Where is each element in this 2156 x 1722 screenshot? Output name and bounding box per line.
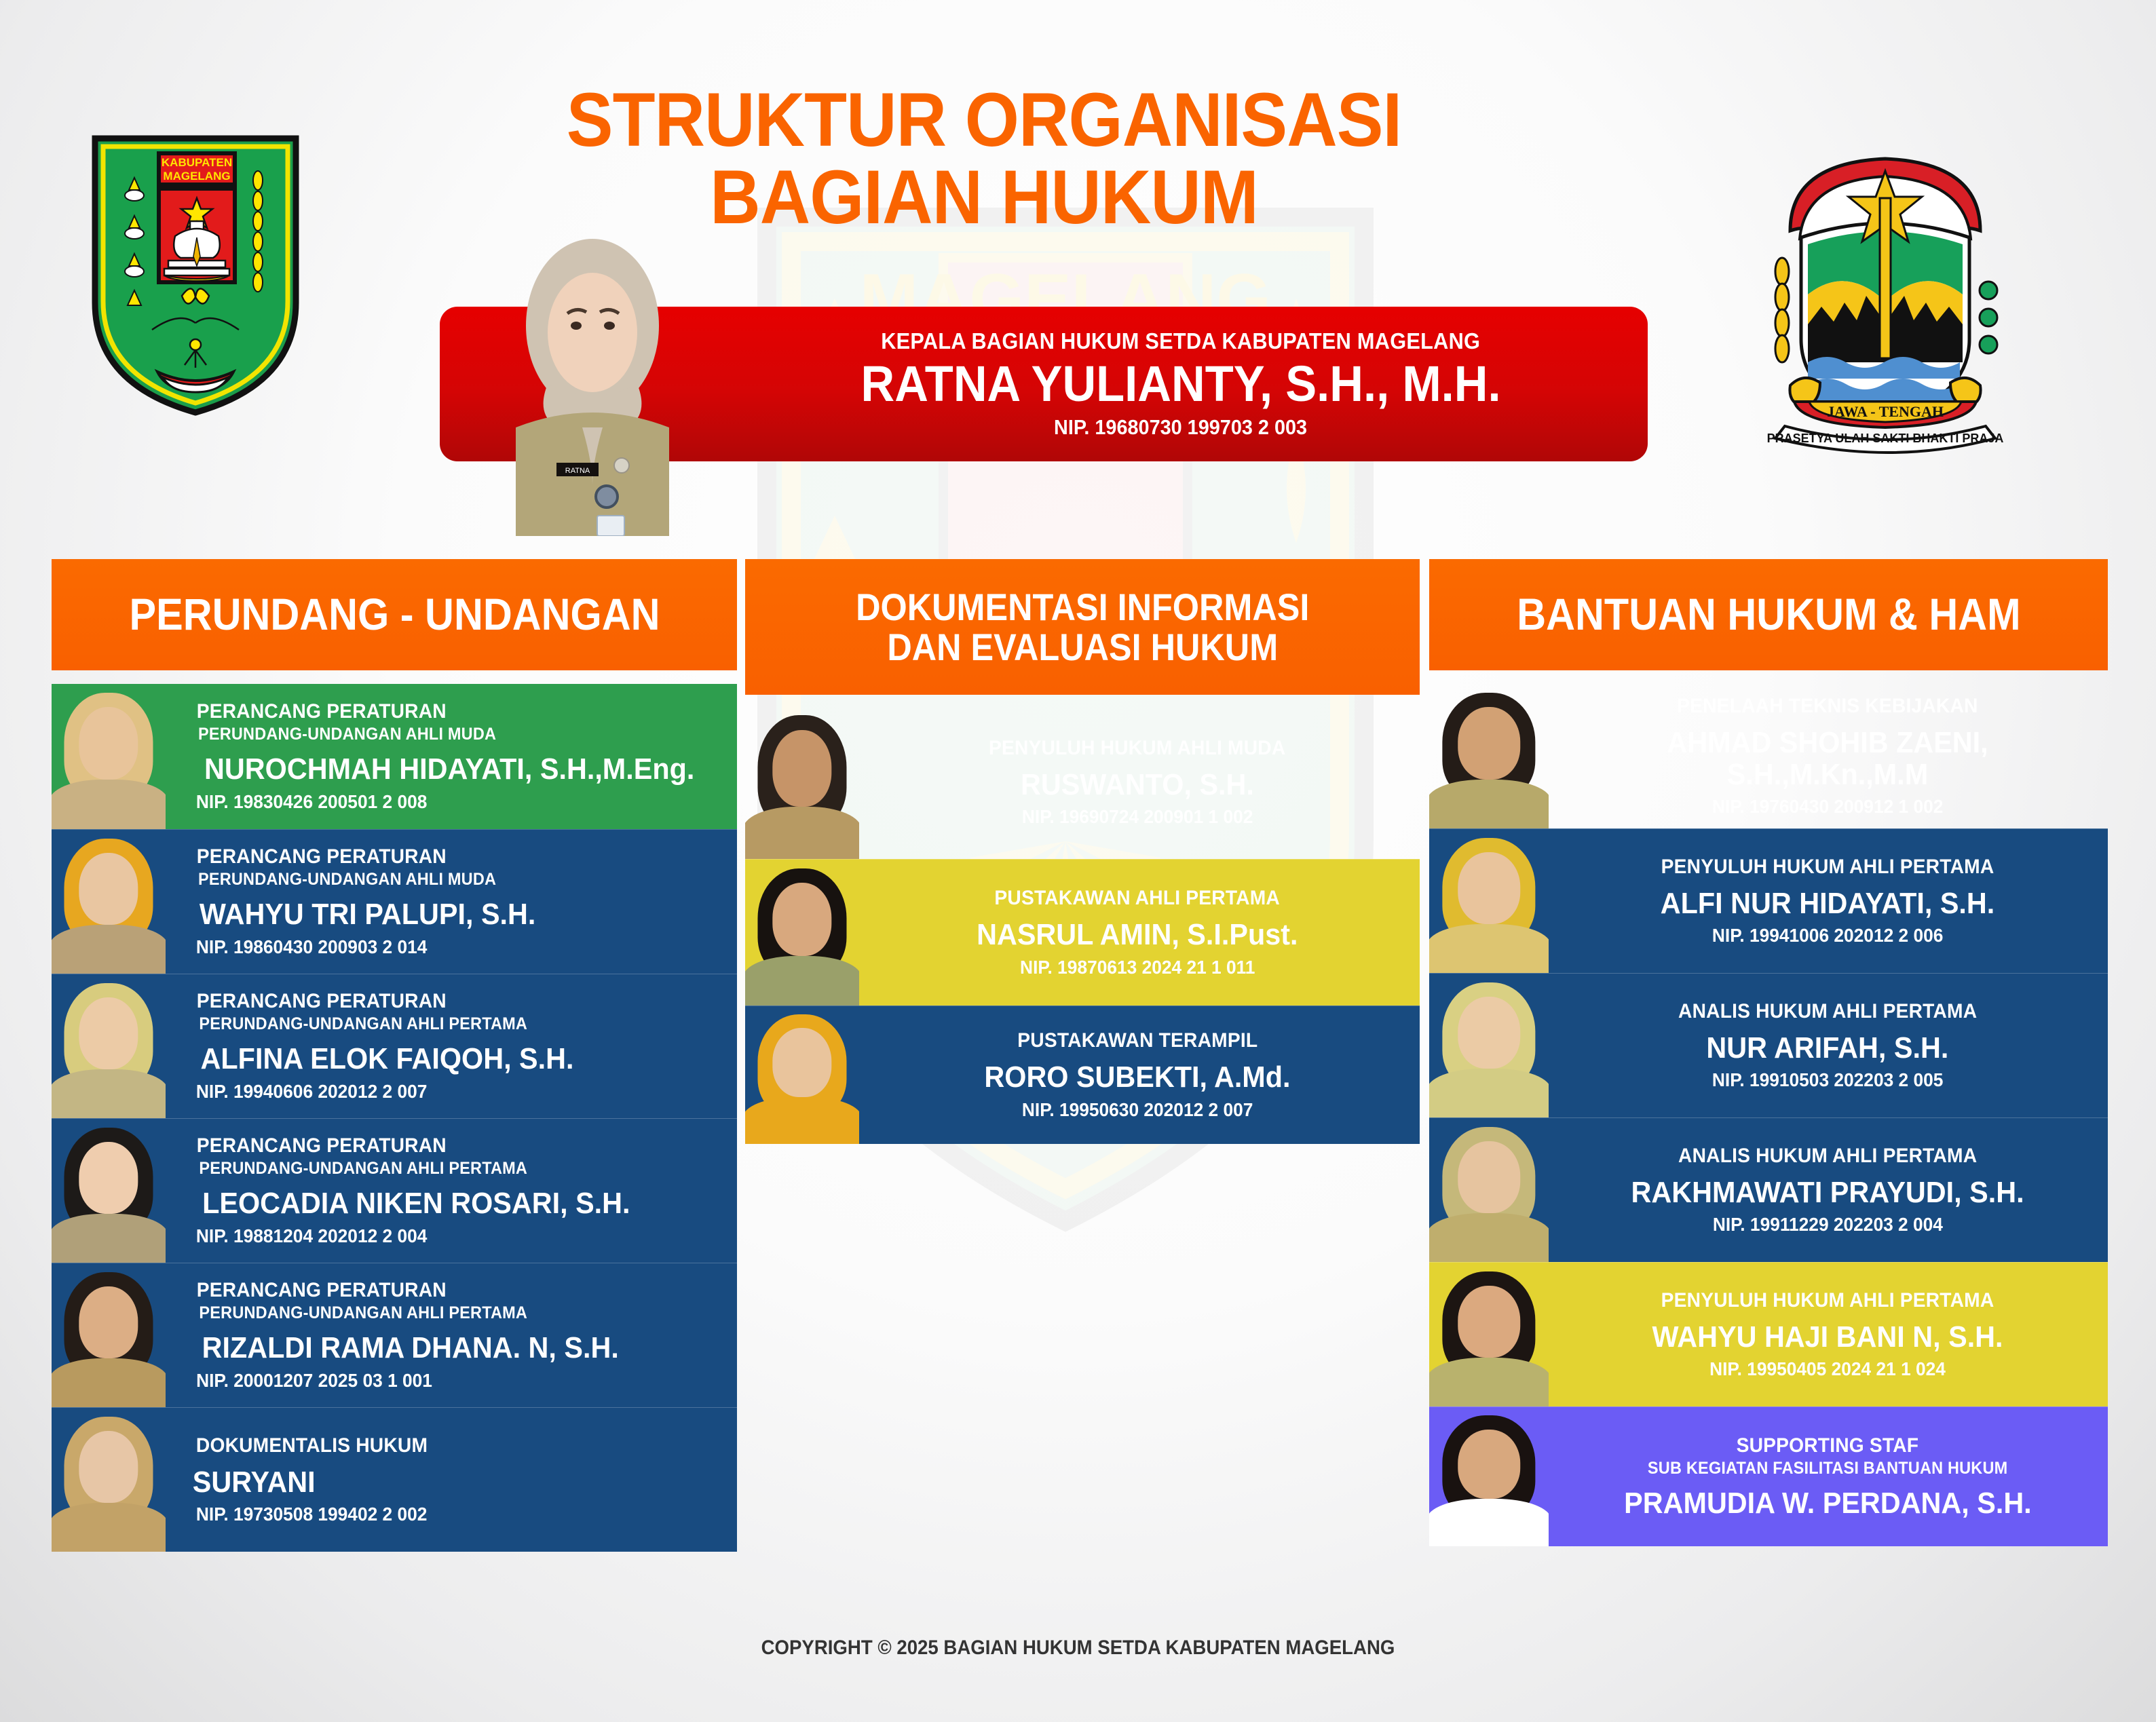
column-dokumentasi-informasi: DOKUMENTASI INFORMASI DAN EVALUASI HUKUM… (745, 559, 1420, 1144)
title-line-1: STRUKTUR ORGANISASI (453, 81, 1515, 159)
svg-text:MAGELANG: MAGELANG (163, 170, 230, 183)
member-info: PUSTAKAWAN TERAMPILRORO SUBEKTI, A.Md.NI… (859, 1022, 1420, 1127)
member-card[interactable]: PENYULUH HUKUM AHLI MUDARUSWANTO, S.H.NI… (745, 706, 1420, 859)
member-nip: NIP. 19870613 2024 21 1 011 (1020, 957, 1255, 978)
member-nip: NIP. 19860430 200903 2 014 (196, 936, 428, 958)
member-name: NUR ARIFAH, S.H. (1707, 1033, 1949, 1064)
member-nip: NIP. 19950630 202012 2 007 (1022, 1099, 1253, 1121)
member-card[interactable]: DOKUMENTALIS HUKUMSURYANINIP. 19730508 1… (52, 1407, 737, 1552)
jawa-tengah-motto: PRASETYA ULAH SAKTI BHAKTI PRAJA (1767, 432, 2004, 445)
member-info: PUSTAKAWAN AHLI PERTAMANASRUL AMIN, S.I.… (859, 880, 1420, 984)
member-role: PERANCANG PERATURAN (197, 990, 447, 1013)
column-perundang-undangan: PERUNDANG - UNDANGAN PERANCANG PERATURAN… (52, 559, 737, 1552)
member-card[interactable]: PENYULUH HUKUM AHLI PERTAMAWAHYU HAJI BA… (1429, 1262, 2108, 1407)
member-info: ANALIS HUKUM AHLI PERTAMANUR ARIFAH, S.H… (1549, 993, 2108, 1098)
member-role-detail: PERUNDANG-UNDANGAN AHLI MUDA (198, 870, 496, 889)
column-1-cards: PERANCANG PERATURANPERUNDANG-UNDANGAN AH… (52, 684, 737, 1552)
member-photo (1429, 1118, 1549, 1262)
member-photo (745, 860, 859, 1006)
member-role: PENYULUH HUKUM AHLI MUDA (989, 737, 1285, 760)
member-nip: NIP. 19941006 202012 2 006 (1712, 925, 1944, 946)
member-card[interactable]: PERANCANG PERATURANPERUNDANG-UNDANGAN AH… (52, 829, 737, 974)
member-nip: NIP. 19881204 202012 2 004 (196, 1225, 428, 1247)
member-card[interactable]: ANALIS HUKUM AHLI PERTAMANUR ARIFAH, S.H… (1429, 973, 2108, 1117)
member-nip: NIP. 19940606 202012 2 007 (196, 1081, 428, 1103)
member-role: PERANCANG PERATURAN (197, 1134, 447, 1157)
member-card[interactable]: PERANCANG PERATURANPERUNDANG-UNDANGAN AH… (52, 684, 737, 829)
column-header-3[interactable]: BANTUAN HUKUM & HAM (1429, 559, 2108, 670)
member-info: SUPPORTING STAF SUB KEGIATAN FASILITASI … (1549, 1428, 2108, 1526)
member-info: PERANCANG PERATURANPERUNDANG-UNDANGAN AH… (166, 1128, 737, 1253)
member-photo (52, 684, 166, 829)
member-name: WAHYU TRI PALUPI, S.H. (200, 899, 536, 930)
member-name: ALFINA ELOK FAIQOH, S.H. (201, 1044, 574, 1075)
member-photo (745, 706, 859, 859)
member-role-detail: PERUNDANG-UNDANGAN AHLI PERTAMA (199, 1159, 527, 1179)
kabupaten-magelang-logo: KABUPATEN MAGELANG (87, 133, 304, 418)
member-role: PERANCANG PERATURAN (197, 700, 447, 723)
member-name: NUROCHMAH HIDAYATI, S.H.,M.Eng. (204, 754, 694, 785)
member-info: DOKUMENTALIS HUKUMSURYANINIP. 19730508 1… (166, 1428, 737, 1532)
member-role-detail: PERUNDANG-UNDANGAN AHLI MUDA (198, 725, 496, 744)
member-photo (52, 1263, 166, 1407)
column-header-2[interactable]: DOKUMENTASI INFORMASI DAN EVALUASI HUKUM (745, 559, 1420, 695)
poster-canvas: MAGELANG KABUPATEN MAGELANG (0, 0, 2156, 1722)
member-role: ANALIS HUKUM AHLI PERTAMA (1678, 1145, 1977, 1168)
column-header-1[interactable]: PERUNDANG - UNDANGAN (52, 559, 737, 670)
member-name: RIZALDI RAMA DHANA. N, S.H. (202, 1333, 619, 1364)
leader-name-badge: RATNA (565, 467, 590, 475)
member-photo (52, 830, 166, 974)
member-info: PERANCANG PERATURANPERUNDANG-UNDANGAN AH… (166, 983, 737, 1109)
member-name: WAHYU HAJI BANI N, S.H. (1652, 1322, 2003, 1353)
member-photo (1429, 829, 1549, 973)
member-name: PRAMUDIA W. PERDANA, S.H. (1624, 1488, 2032, 1519)
member-nip: NIP. 19911229 202203 2 004 (1712, 1214, 1942, 1236)
member-card[interactable]: PENELAAH TEKNIS KEBIJAKANAHMAD SHOHIB ZA… (1429, 684, 2108, 828)
member-role: PERANCANG PERATURAN (197, 1279, 447, 1302)
member-photo (1429, 974, 1549, 1117)
member-nip: NIP. 19690724 200901 1 002 (1022, 806, 1253, 828)
column-header-2-text: DOKUMENTASI INFORMASI DAN EVALUASI HUKUM (856, 587, 1309, 668)
member-photo (52, 1408, 166, 1552)
member-role-detail: PERUNDANG-UNDANGAN AHLI PERTAMA (199, 1303, 527, 1323)
member-name: RORO SUBEKTI, A.Md. (984, 1062, 1290, 1093)
member-card[interactable]: PUSTAKAWAN AHLI PERTAMANASRUL AMIN, S.I.… (745, 859, 1420, 1006)
member-name: RUSWANTO, S.H. (1021, 769, 1254, 801)
member-role: ANALIS HUKUM AHLI PERTAMA (1678, 1000, 1977, 1023)
member-role: PENYULUH HUKUM AHLI PERTAMA (1661, 856, 1994, 879)
leader-role: KEPALA BAGIAN HUKUM SETDA KABUPATEN MAGE… (882, 328, 1481, 354)
member-nip: NIP. 19950405 2024 21 1 024 (1709, 1358, 1946, 1380)
member-name: RAKHMAWATI PRAYUDI, S.H. (1631, 1177, 2024, 1208)
member-nip: NIP. 19910503 202203 2 005 (1712, 1069, 1944, 1091)
leader-nip: NIP. 19680730 199703 2 003 (1054, 415, 1307, 440)
member-photo (745, 1006, 859, 1144)
member-photo (1429, 684, 1549, 828)
member-info: PERANCANG PERATURANPERUNDANG-UNDANGAN AH… (166, 839, 737, 964)
member-name: AHMAD SHOHIB ZAENI, S.H.,M.Kn.,M.M (1572, 727, 2083, 790)
member-photo (52, 974, 166, 1118)
member-name: NASRUL AMIN, S.I.Pust. (977, 919, 1298, 951)
column-bantuan-hukum-ham: BANTUAN HUKUM & HAM PENELAAH TEKNIS KEBI… (1429, 559, 2108, 1546)
member-name: ALFI NUR HIDAYATI, S.H. (1661, 888, 1995, 919)
member-card[interactable]: ANALIS HUKUM AHLI PERTAMARAKHMAWATI PRAY… (1429, 1117, 2108, 1262)
jawa-tengah-caption: JAWA - TENGAH (1827, 403, 1944, 420)
member-role: PERANCANG PERATURAN (197, 845, 447, 868)
page-title: STRUKTUR ORGANISASI BAGIAN HUKUM (407, 81, 1561, 236)
member-info: ANALIS HUKUM AHLI PERTAMARAKHMAWATI PRAY… (1549, 1138, 2108, 1242)
svg-text:KABUPATEN: KABUPATEN (162, 156, 232, 169)
member-photo (52, 1119, 166, 1263)
leader-name: RATNA YULIANTY, S.H., M.H. (860, 358, 1500, 409)
column-3-cards: PENELAAH TEKNIS KEBIJAKANAHMAD SHOHIB ZA… (1429, 684, 2108, 1546)
member-nip: NIP. 19830426 200501 2 008 (196, 791, 428, 813)
member-role-detail: PERUNDANG-UNDANGAN AHLI PERTAMA (199, 1014, 527, 1034)
member-role: PENELAAH TEKNIS KEBIJAKAN (1677, 695, 1978, 718)
member-card[interactable]: PERANCANG PERATURANPERUNDANG-UNDANGAN AH… (52, 974, 737, 1118)
member-name: LEOCADIA NIKEN ROSARI, S.H. (202, 1188, 630, 1219)
member-info: PENYULUH HUKUM AHLI PERTAMAWAHYU HAJI BA… (1549, 1282, 2108, 1387)
column-2-cards: PENYULUH HUKUM AHLI MUDARUSWANTO, S.H.NI… (745, 706, 1420, 1144)
member-card[interactable]: PERANCANG PERATURANPERUNDANG-UNDANGAN AH… (52, 1118, 737, 1263)
member-nip: NIP. 19760430 200912 1 002 (1712, 796, 1944, 818)
member-card[interactable]: PUSTAKAWAN TERAMPILRORO SUBEKTI, A.Md.NI… (745, 1006, 1420, 1144)
leader-photo: RATNA (480, 224, 704, 536)
member-card[interactable]: SUPPORTING STAF SUB KEGIATAN FASILITASI … (1429, 1407, 2108, 1546)
member-info: PENYULUH HUKUM AHLI MUDARUSWANTO, S.H.NI… (859, 730, 1420, 835)
member-nip: NIP. 19730508 199402 2 002 (196, 1504, 428, 1525)
member-role: SUPPORTING STAF (1737, 1434, 1919, 1457)
member-name: SURYANI (193, 1467, 316, 1498)
member-info: PERANCANG PERATURANPERUNDANG-UNDANGAN AH… (166, 693, 737, 819)
member-info: PENELAAH TEKNIS KEBIJAKANAHMAD SHOHIB ZA… (1549, 688, 2108, 824)
member-role: PENYULUH HUKUM AHLI PERTAMA (1661, 1289, 1994, 1312)
member-role: PUSTAKAWAN AHLI PERTAMA (995, 887, 1281, 910)
member-role: DOKUMENTALIS HUKUM (196, 1434, 428, 1457)
jawa-tengah-logo: JAWA - TENGAH PRASETYA ULAH SAKTI BHAKTI… (1750, 136, 2021, 455)
member-info: PERANCANG PERATURANPERUNDANG-UNDANGAN AH… (166, 1272, 737, 1398)
member-role: PUSTAKAWAN TERAMPIL (1017, 1029, 1257, 1052)
member-role-detail: SUB KEGIATAN FASILITASI BANTUAN HUKUM (1648, 1459, 2007, 1478)
member-photo (1429, 1407, 1549, 1546)
member-card[interactable]: PERANCANG PERATURANPERUNDANG-UNDANGAN AH… (52, 1263, 737, 1407)
member-card[interactable]: PENYULUH HUKUM AHLI PERTAMAALFI NUR HIDA… (1429, 828, 2108, 973)
leader-info: KEPALA BAGIAN HUKUM SETDA KABUPATEN MAGE… (719, 307, 1642, 461)
member-info: PENYULUH HUKUM AHLI PERTAMAALFI NUR HIDA… (1549, 849, 2108, 953)
member-photo (1429, 1263, 1549, 1407)
member-nip: NIP. 20001207 2025 03 1 001 (196, 1370, 432, 1392)
footer-copyright: COPYRIGHT © 2025 BAGIAN HUKUM SETDA KABU… (0, 1637, 2156, 1660)
